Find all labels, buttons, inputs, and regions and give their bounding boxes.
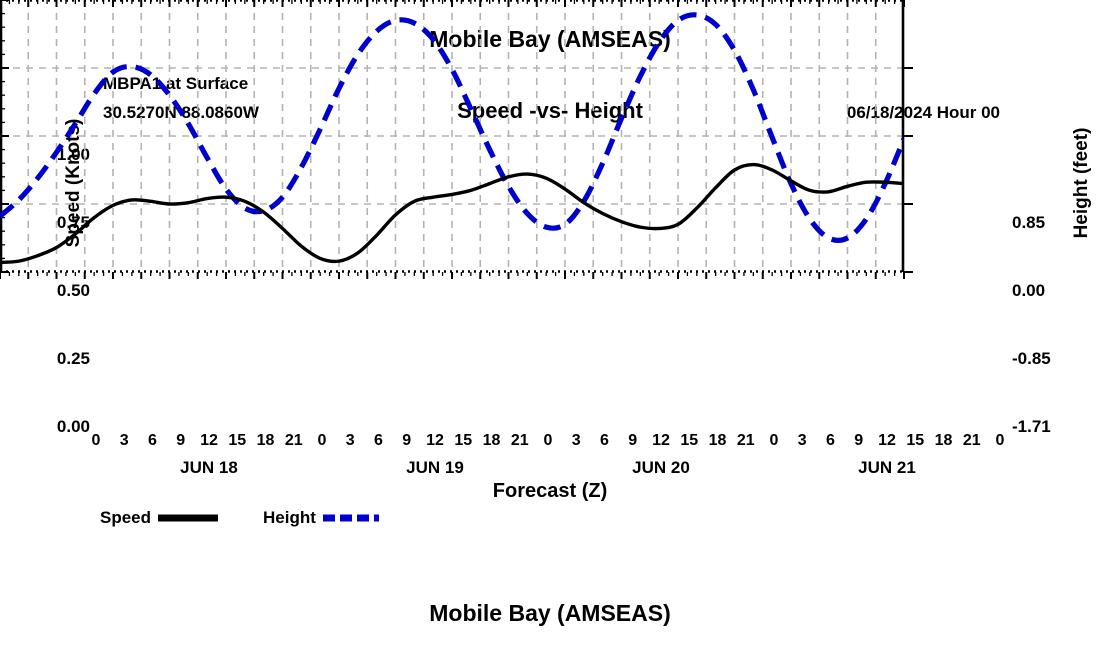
x-tick-19: 9 (628, 432, 637, 450)
y-tick-right-1: -0.85 (1012, 349, 1051, 369)
x-tick-15: 21 (511, 432, 529, 450)
x-tick-30: 18 (935, 432, 953, 450)
x-tick-4: 12 (200, 432, 218, 450)
x-tick-25: 3 (798, 432, 807, 450)
x-tick-18: 6 (600, 432, 609, 450)
day-label-1: JUN 19 (406, 458, 464, 478)
chart-page: Mobile Bay (AMSEAS) MBPA1 at Surface 30.… (0, 0, 1100, 650)
y-tick-left-2: 0.50 (57, 281, 90, 301)
series-line-height (0, 15, 904, 241)
x-tick-2: 6 (148, 432, 157, 450)
legend-entry-height: Height (263, 508, 380, 528)
x-tick-23: 21 (737, 432, 755, 450)
x-tick-14: 18 (483, 432, 501, 450)
plot-svg (0, 0, 904, 272)
legend-swatch-speed (157, 512, 219, 524)
y-tick-right-3: 0.85 (1012, 213, 1045, 233)
x-tick-7: 21 (285, 432, 303, 450)
y-tick-right-2: 0.00 (1012, 281, 1045, 301)
day-label-3: JUN 21 (858, 458, 916, 478)
x-axis-title: Forecast (Z) (0, 480, 1100, 503)
day-label-0: JUN 18 (180, 458, 238, 478)
x-tick-6: 18 (257, 432, 275, 450)
x-tick-9: 3 (346, 432, 355, 450)
plot-area (0, 0, 904, 272)
x-tick-0: 0 (92, 432, 101, 450)
x-tick-10: 6 (374, 432, 383, 450)
x-tick-1: 3 (120, 432, 129, 450)
y-axis-right-title: Height (feet) (1071, 73, 1093, 293)
x-tick-3: 9 (176, 432, 185, 450)
y-tick-right-0: -1.71 (1012, 417, 1051, 437)
x-tick-8: 0 (318, 432, 327, 450)
x-tick-17: 3 (572, 432, 581, 450)
y-tick-left-1: 0.25 (57, 349, 90, 369)
x-tick-27: 9 (854, 432, 863, 450)
x-tick-13: 15 (454, 432, 472, 450)
y-tick-left-0: 0.00 (57, 417, 90, 437)
x-tick-26: 6 (826, 432, 835, 450)
page-title-bottom: Mobile Bay (AMSEAS) (0, 600, 1100, 627)
x-tick-11: 9 (402, 432, 411, 450)
x-tick-24: 0 (770, 432, 779, 450)
x-tick-20: 12 (652, 432, 670, 450)
x-tick-28: 12 (878, 432, 896, 450)
x-tick-21: 15 (680, 432, 698, 450)
x-tick-16: 0 (544, 432, 553, 450)
x-tick-31: 21 (963, 432, 981, 450)
x-tick-12: 12 (426, 432, 444, 450)
legend-label-height: Height (263, 508, 316, 528)
legend-swatch-height (322, 512, 380, 524)
x-tick-5: 15 (228, 432, 246, 450)
legend-entry-speed: Speed (100, 508, 219, 528)
x-tick-32: 0 (996, 432, 1005, 450)
day-label-2: JUN 20 (632, 458, 690, 478)
legend-label-speed: Speed (100, 508, 151, 528)
chart-legend: Speed Height (100, 508, 380, 528)
x-tick-29: 15 (906, 432, 924, 450)
x-tick-22: 18 (709, 432, 727, 450)
